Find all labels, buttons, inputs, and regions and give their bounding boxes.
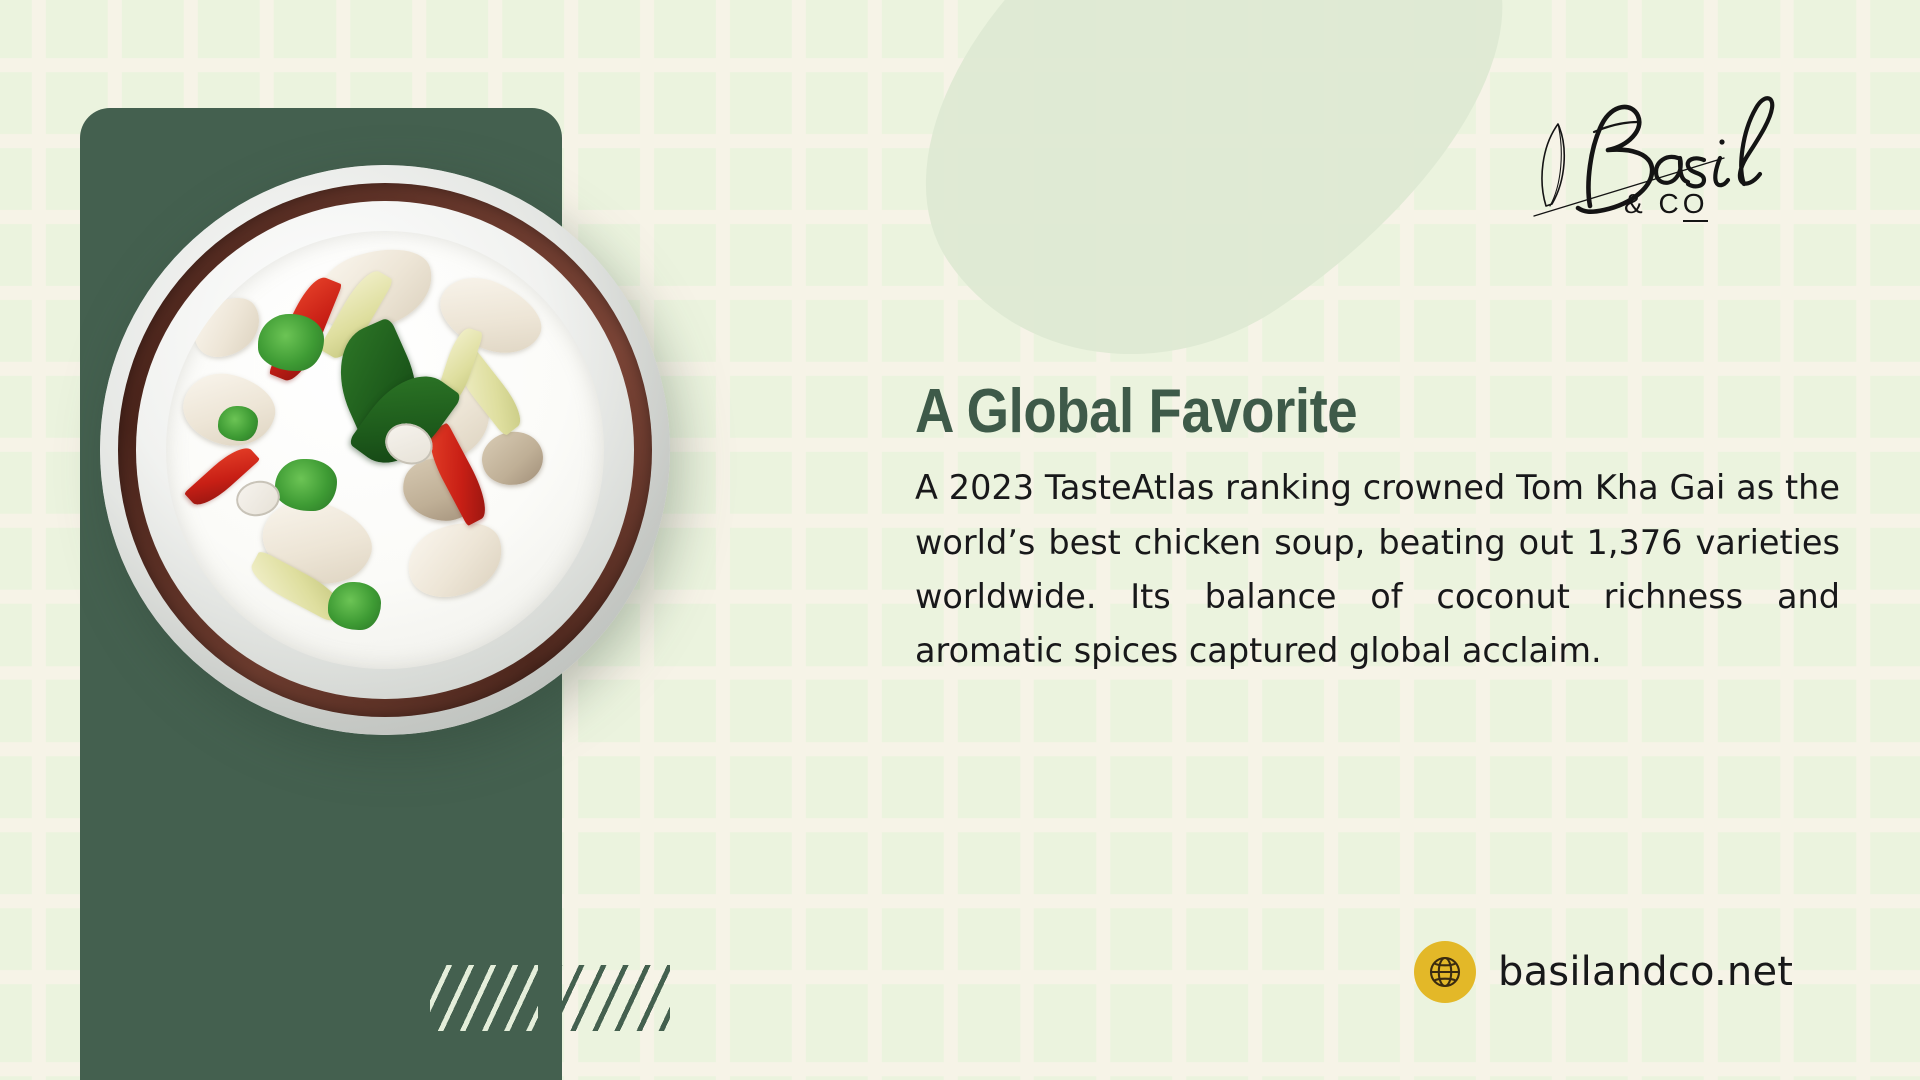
page-title: A Global Favorite	[915, 380, 1733, 443]
soup-bowl	[100, 165, 670, 735]
ingredient-chicken	[397, 509, 513, 610]
globe-icon	[1414, 941, 1476, 1003]
logo-subtext-suffix: O	[1683, 188, 1709, 222]
diagonal-slash-decoration	[430, 965, 670, 1031]
body-paragraph: A 2023 TasteAtlas ranking crowned Tom Kh…	[915, 461, 1840, 678]
content-block: A Global Favorite A 2023 TasteAtlas rank…	[915, 380, 1845, 678]
logo-subtext-prefix: & C	[1624, 188, 1683, 219]
ingredient-mushroom	[476, 426, 548, 492]
ingredient-cilantro	[258, 314, 324, 371]
website-footer[interactable]: basilandco.net	[1414, 941, 1793, 1003]
website-url[interactable]: basilandco.net	[1498, 949, 1793, 995]
brand-logo[interactable]: & CO	[1528, 88, 1808, 233]
ingredient-cilantro	[218, 406, 258, 441]
ingredient-cilantro	[328, 582, 381, 630]
logo-subtext: & CO	[1624, 188, 1708, 220]
ingredient-cilantro	[275, 459, 336, 512]
coconut-broth	[166, 231, 605, 670]
poster-canvas: & CO A Global Favorite A 2023 TasteAtlas…	[0, 0, 1920, 1080]
soup-photo	[100, 165, 670, 735]
